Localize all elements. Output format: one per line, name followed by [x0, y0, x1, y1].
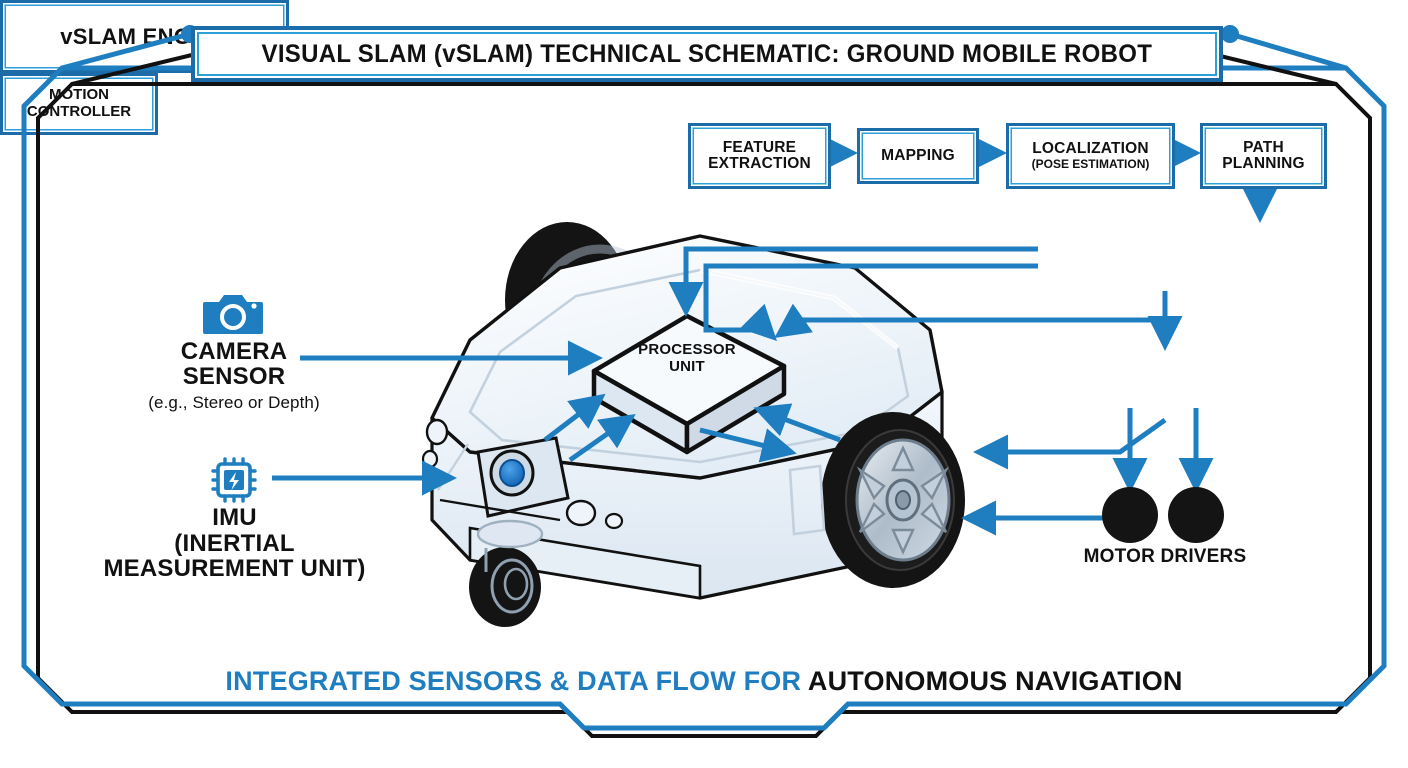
pipeline-box-localization[interactable]: LOCALIZATION (POSE ESTIMATION)	[1006, 123, 1175, 189]
camera-sensor-label-group: CAMERA SENSOR (e.g., Stereo or Depth)	[100, 340, 368, 413]
pipeline-box-mapping[interactable]: MAPPING	[857, 128, 979, 184]
arrow-bus-b	[570, 418, 630, 460]
motor-drivers-label: MOTOR DRIVERS	[1060, 546, 1270, 568]
pipeline-box-feature-extraction[interactable]: FEATURE EXTRACTION	[688, 123, 831, 189]
imu-label-line2: (INERTIAL	[82, 531, 387, 557]
footer-caption: INTEGRATED SENSORS & DATA FLOW FOR AUTON…	[0, 666, 1408, 697]
localization-label: LOCALIZATION	[1032, 141, 1149, 157]
path-label-line2: PLANNING	[1222, 156, 1305, 172]
page-title: VISUAL SLAM (vSLAM) TECHNICAL SCHEMATIC:…	[262, 40, 1153, 69]
camera-label-line1: CAMERA	[100, 340, 368, 365]
arrow-processor-to-drive	[700, 430, 790, 452]
path-label-line1: PATH	[1243, 140, 1284, 156]
motor-drivers-label-group: MOTOR DRIVERS	[1060, 546, 1270, 568]
feature-label-line1: FEATURE	[723, 140, 796, 156]
caption-rest: AUTONOMOUS NAVIGATION	[808, 666, 1183, 696]
motor-driver-left[interactable]	[1102, 487, 1158, 543]
imu-label-line3: MEASUREMENT UNIT)	[82, 556, 387, 582]
camera-label-line2: SENSOR	[100, 365, 368, 390]
motor-driver-nodes	[1095, 484, 1235, 546]
schematic-canvas: VISUAL SLAM (vSLAM) TECHNICAL SCHEMATIC:…	[0, 0, 1408, 768]
camera-sublabel: (e.g., Stereo or Depth)	[100, 393, 368, 413]
caption-highlight: INTEGRATED SENSORS & DATA FLOW FOR	[225, 666, 807, 696]
imu-label-line1: IMU	[82, 505, 387, 531]
arrow-driver-to-wheel-upper	[980, 420, 1165, 452]
arrow-bus-a	[545, 398, 600, 440]
localization-sublabel: (POSE ESTIMATION)	[1032, 158, 1150, 171]
arrow-processor-inbound-right	[780, 320, 1175, 334]
mapping-label: MAPPING	[881, 148, 955, 164]
pipeline-box-path-planning[interactable]: PATH PLANNING	[1200, 123, 1327, 189]
imu-label-group: IMU (INERTIAL MEASUREMENT UNIT)	[82, 505, 387, 582]
chip-bolt-icon	[209, 455, 259, 505]
arrow-drive-to-processor	[760, 410, 840, 440]
camera-icon	[203, 290, 263, 336]
arrow-engine-to-processor-a	[686, 249, 1038, 310]
arrow-engine-to-processor-b	[706, 266, 1038, 336]
feature-label-line2: EXTRACTION	[708, 156, 811, 172]
schematic-title-bar: VISUAL SLAM (vSLAM) TECHNICAL SCHEMATIC:…	[191, 26, 1223, 82]
motor-driver-right[interactable]	[1168, 487, 1224, 543]
